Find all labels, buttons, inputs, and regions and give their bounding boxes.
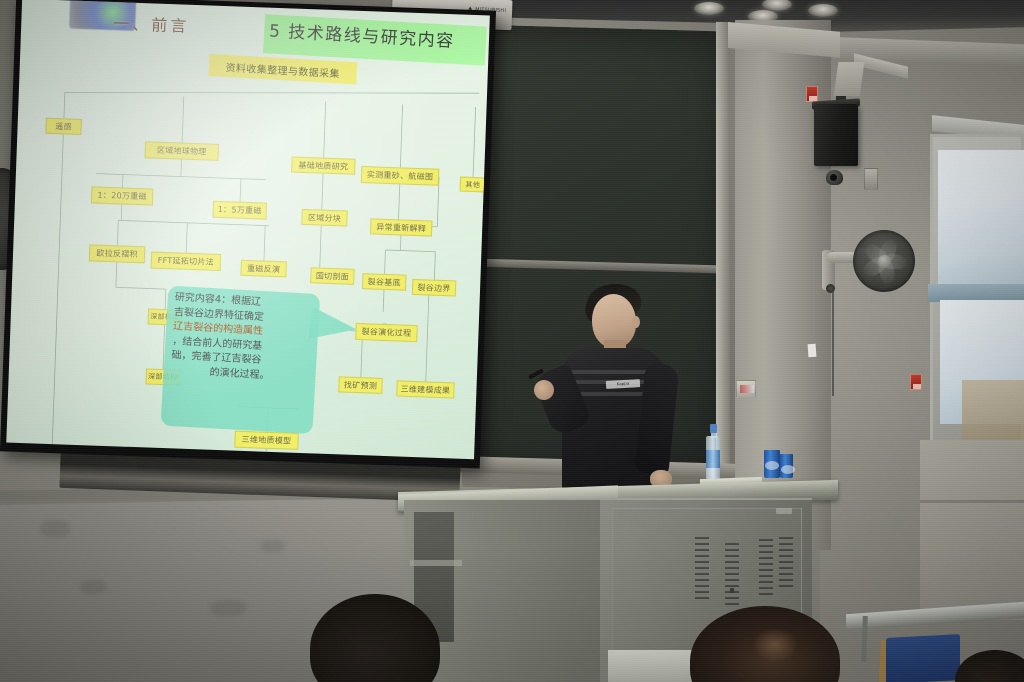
projection-screen: 一、前言 5 技术路线与研究内容 资料收集整理与数据采集 bbox=[0, 0, 496, 468]
flow-node: 基础地质研究 bbox=[291, 157, 356, 175]
flow-node: 区域地球物理 bbox=[145, 141, 220, 161]
flow-node: 重磁反演 bbox=[240, 260, 287, 278]
vent-slots-icon bbox=[725, 543, 739, 605]
presenter-ear bbox=[632, 316, 640, 328]
vent-slots-icon bbox=[759, 539, 773, 595]
wall-speaker-icon bbox=[814, 104, 858, 166]
flow-node: 遥感 bbox=[45, 118, 82, 135]
flow-node: FFT延拓切片法 bbox=[151, 252, 222, 271]
bottle-label bbox=[706, 450, 720, 468]
ceiling-light bbox=[808, 4, 838, 17]
blue-cup[interactable] bbox=[764, 450, 780, 478]
wall-note bbox=[808, 344, 817, 358]
security-camera-icon bbox=[826, 170, 843, 185]
flow-node: 实测重砂、航磁图 bbox=[361, 166, 440, 186]
slide-callout: 研究内容4：根据辽 吉裂谷边界特征确定 辽吉裂谷的构造属性 ，结合前人的研究基 … bbox=[161, 286, 321, 434]
classroom-chair bbox=[886, 634, 960, 682]
vent-slots-icon bbox=[779, 537, 793, 587]
window-pane-upper bbox=[938, 150, 1024, 284]
flow-node: 找矿预测 bbox=[338, 376, 383, 394]
cabinet-badge bbox=[776, 508, 792, 514]
flow-node: 裂谷边界 bbox=[412, 279, 457, 297]
podium-shelf bbox=[410, 560, 462, 566]
presenter: Kappa bbox=[556, 284, 716, 514]
flow-node: 1：5万重磁 bbox=[212, 201, 267, 220]
flow-node: 裂谷基底 bbox=[362, 273, 407, 291]
fire-alarm-icon[interactable] bbox=[806, 86, 818, 102]
flow-node: 欧拉反褶积 bbox=[89, 244, 146, 263]
wall-stain bbox=[80, 580, 106, 594]
wall-stain bbox=[260, 540, 284, 552]
flow-node: 三维建模成果 bbox=[396, 380, 455, 398]
cabinet-lock-icon[interactable] bbox=[730, 588, 734, 593]
wall-stain bbox=[40, 520, 70, 538]
water-bottle[interactable] bbox=[706, 424, 720, 480]
flow-node: 其他 bbox=[460, 177, 487, 193]
blue-cup[interactable] bbox=[780, 454, 793, 478]
wall-poster bbox=[736, 380, 756, 398]
flow-node: 三维地质模型 bbox=[234, 431, 299, 450]
right-lower-wall bbox=[920, 440, 1024, 620]
vent-slots-icon bbox=[695, 537, 709, 603]
classroom-scene: MITSUBISHI 一、前言 5 技术路线与研究内容 资料收集整理与数据采集 bbox=[0, 0, 1024, 682]
slide-surface: 一、前言 5 技术路线与研究内容 资料收集整理与数据采集 bbox=[6, 0, 490, 459]
flow-node: 1：20万重磁 bbox=[91, 186, 154, 205]
blackboard-frame-right bbox=[716, 22, 730, 482]
ceiling-light bbox=[694, 2, 724, 15]
fan-hub bbox=[878, 255, 891, 268]
wall-fan-icon[interactable] bbox=[853, 230, 915, 292]
flow-node: 裂谷演化过程 bbox=[355, 323, 418, 342]
bottle-cap bbox=[710, 424, 717, 433]
flow-node: 国切剖面 bbox=[310, 267, 355, 285]
flow-node: 异常重新解释 bbox=[370, 218, 433, 236]
wall-stain bbox=[210, 600, 246, 616]
fan-pull-knob[interactable] bbox=[826, 284, 835, 293]
flow-node: 区域分块 bbox=[301, 209, 348, 227]
wall-switch-plate[interactable] bbox=[864, 168, 878, 190]
fire-alarm-icon[interactable] bbox=[910, 374, 922, 390]
ceiling-conduit bbox=[834, 62, 865, 96]
fan-pull-cord[interactable] bbox=[832, 288, 834, 396]
